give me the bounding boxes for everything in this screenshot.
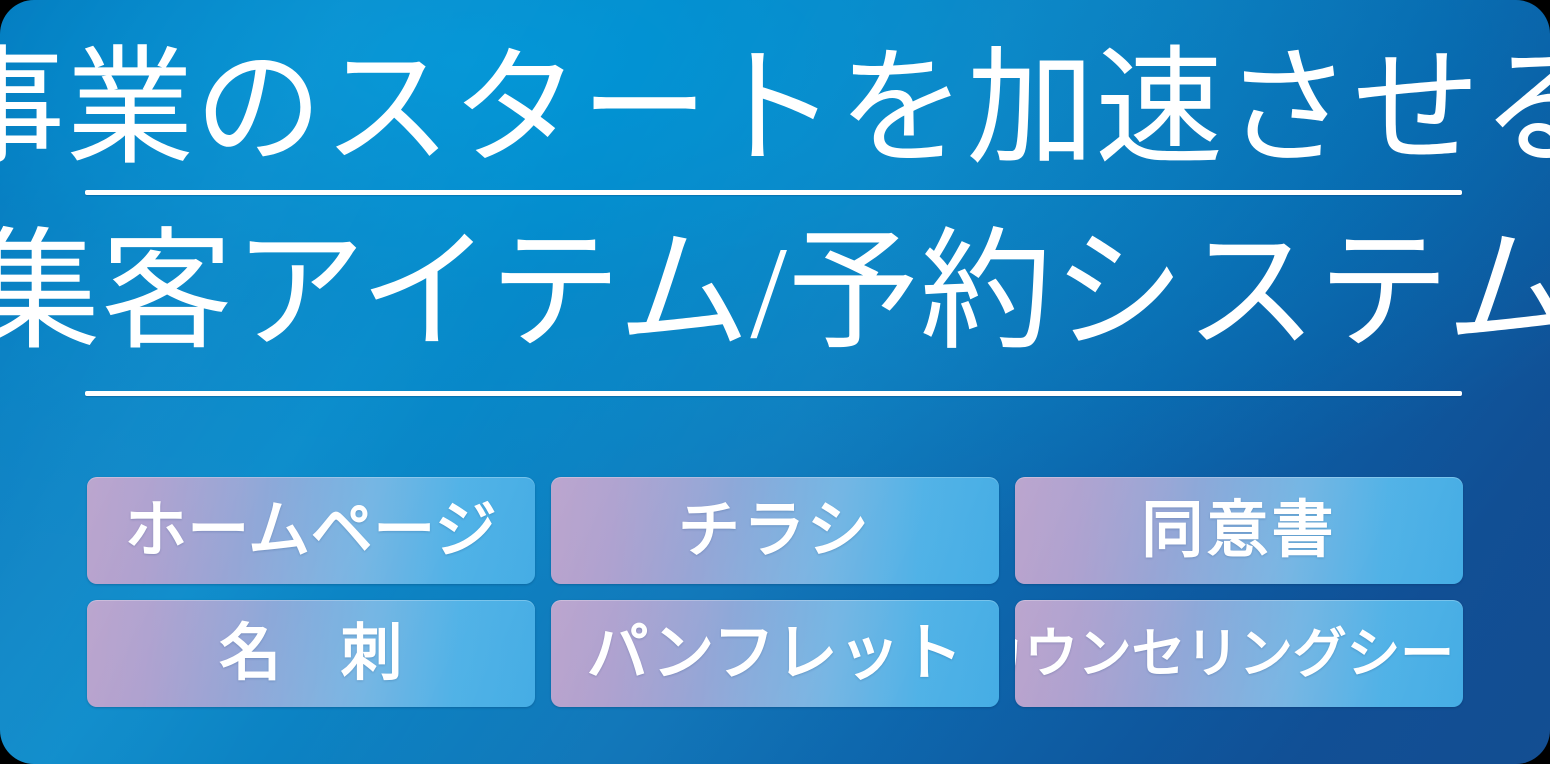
badge-label: パンフレット <box>587 623 964 685</box>
promo-banner: 事業のスタートを加速させる 集客アイテム/予約システム ホームページ チラシ 同… <box>0 0 1550 764</box>
service-badge-grid: ホームページ チラシ 同意書 名 刺 パンフレット カウンセリングシート <box>87 477 1463 707</box>
headline-block: 事業のスタートを加速させる 集客アイテム/予約システム <box>85 28 1462 396</box>
badge-label: 同意書 <box>1141 500 1336 562</box>
badge-homepage[interactable]: ホームページ <box>87 477 535 584</box>
headline-divider-bottom <box>85 391 1462 396</box>
badge-label: ホームページ <box>125 500 498 562</box>
headline-line-2: 集客アイテム/予約システム <box>85 195 1462 391</box>
badge-label: カウンセリングシート <box>1015 627 1463 681</box>
badge-flyer[interactable]: チラシ <box>551 477 999 584</box>
headline-line-1: 事業のスタートを加速させる <box>85 28 1462 190</box>
badge-pamphlet[interactable]: パンフレット <box>551 600 999 707</box>
banner-content: 事業のスタートを加速させる 集客アイテム/予約システム ホームページ チラシ 同… <box>0 0 1550 764</box>
badge-business-card[interactable]: 名 刺 <box>87 600 535 707</box>
badge-label: 名 刺 <box>198 623 424 685</box>
badge-counseling-sheet[interactable]: カウンセリングシート <box>1015 600 1463 707</box>
badge-consent-form[interactable]: 同意書 <box>1015 477 1463 584</box>
badge-label: チラシ <box>678 500 872 562</box>
